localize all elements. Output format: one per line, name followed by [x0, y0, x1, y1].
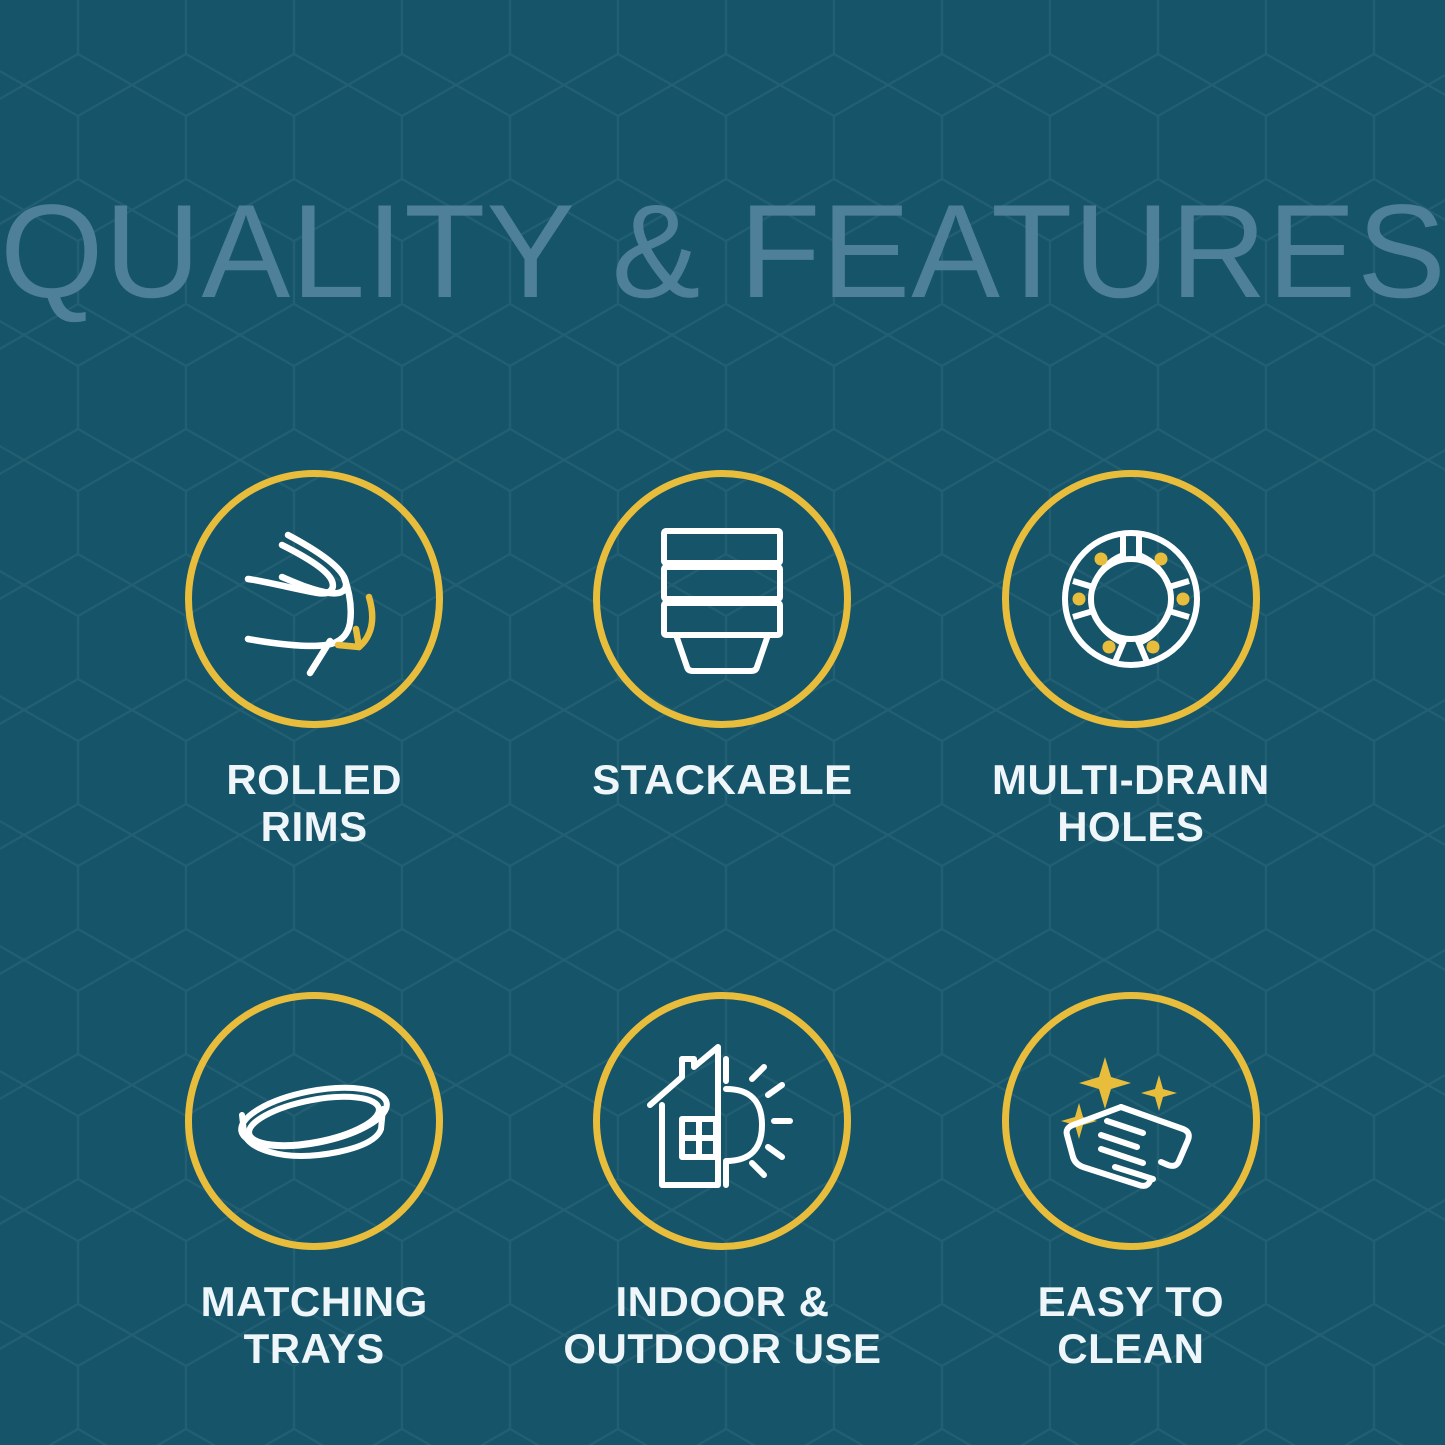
feature-multi-drain-holes: MULTI-DRAIN HOLES	[927, 470, 1335, 850]
feature-icon-ring	[593, 992, 851, 1250]
page-title: QUALITY & FEATURES	[0, 186, 1445, 319]
tray-saucer-icon	[226, 1033, 402, 1209]
features-grid: ROLLED RIMS STACKABLE	[0, 470, 1445, 1372]
stacked-pots-icon	[634, 511, 810, 687]
feature-label: INDOOR & OUTDOOR USE	[563, 1278, 881, 1372]
feature-icon-ring	[1002, 992, 1260, 1250]
house-sun-icon	[634, 1033, 810, 1209]
drain-holes-icon	[1043, 511, 1219, 687]
feature-stackable: STACKABLE	[518, 470, 926, 850]
feature-icon-ring	[185, 470, 443, 728]
feature-label: EASY TO CLEAN	[1038, 1278, 1224, 1372]
feature-icon-ring	[1002, 470, 1260, 728]
feature-indoor-outdoor-use: INDOOR & OUTDOOR USE	[518, 992, 926, 1372]
hand-wiping-sparkle-icon	[1043, 1033, 1219, 1209]
feature-label: STACKABLE	[592, 756, 852, 803]
feature-label: MATCHING TRAYS	[201, 1278, 428, 1372]
feature-rolled-rims: ROLLED RIMS	[110, 470, 518, 850]
quality-features-infographic: QUALITY & FEATURES ROLLED	[0, 0, 1445, 1445]
feature-label: MULTI-DRAIN HOLES	[992, 756, 1270, 850]
feature-label: ROLLED RIMS	[226, 756, 402, 850]
feature-icon-ring	[593, 470, 851, 728]
feature-easy-to-clean: EASY TO CLEAN	[927, 992, 1335, 1372]
feature-matching-trays: MATCHING TRAYS	[110, 992, 518, 1372]
rolled-rim-icon	[226, 511, 402, 687]
feature-icon-ring	[185, 992, 443, 1250]
